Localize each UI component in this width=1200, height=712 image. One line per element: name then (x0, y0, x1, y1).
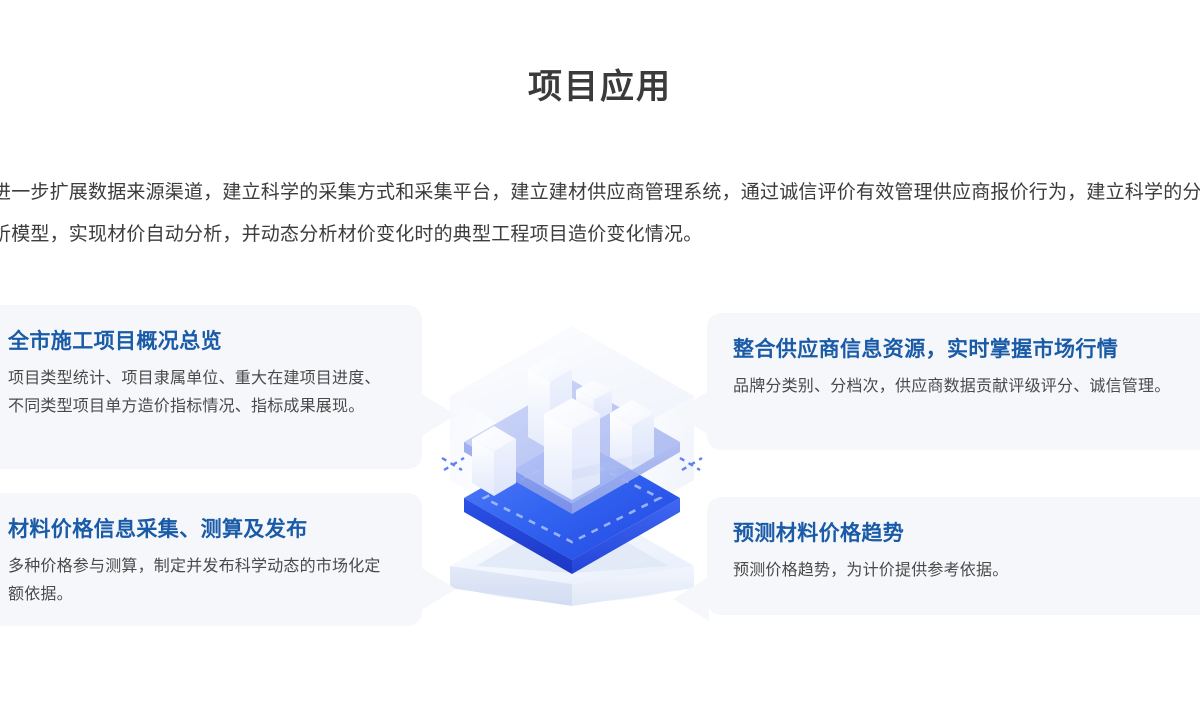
card-body: 预测价格趋势，为计价提供参考依据。 (733, 557, 1192, 585)
speech-tail-right-icon (420, 567, 456, 611)
card-city-construction-overview[interactable]: 全市施工项目概况总览 项目类型统计、项目隶属单位、重大在建项目进度、不同类型项目… (0, 305, 422, 469)
speech-tail-left-icon (673, 391, 709, 435)
card-body: 多种价格参与测算，制定并发布科学动态的市场化定额依据。 (8, 553, 396, 609)
card-body: 品牌分类别、分档次，供应商数据贡献评级评分、诚信管理。 (733, 373, 1192, 401)
isometric-data-platform-illustration (432, 318, 712, 608)
bar-back-left (472, 426, 516, 496)
card-title: 全市施工项目概况总览 (8, 327, 396, 357)
speech-tail-left-icon (673, 577, 709, 621)
bar-front-center (544, 398, 600, 500)
card-title: 整合供应商信息资源，实时掌握市场行情 (733, 335, 1192, 365)
page-title: 项目应用 (0, 64, 1200, 110)
card-supplier-information-integration[interactable]: 整合供应商信息资源，实时掌握市场行情 品牌分类别、分档次，供应商数据贡献评级评分… (707, 313, 1200, 450)
speech-tail-right-icon (420, 393, 456, 437)
card-body: 项目类型统计、项目隶属单位、重大在建项目进度、不同类型项目单方造价指标情况、指标… (8, 365, 396, 421)
card-title: 材料价格信息采集、测算及发布 (8, 515, 396, 545)
card-material-price-collection[interactable]: 材料价格信息采集、测算及发布 多种价格参与测算，制定并发布科学动态的市场化定额依… (0, 493, 422, 626)
card-title: 预测材料价格趋势 (733, 519, 1192, 549)
intro-paragraph: 进一步扩展数据来源渠道，建立科学的采集方式和采集平台，建立建材供应商管理系统，通… (0, 172, 1200, 256)
card-material-price-forecast[interactable]: 预测材料价格趋势 预测价格趋势，为计价提供参考依据。 (707, 497, 1200, 615)
